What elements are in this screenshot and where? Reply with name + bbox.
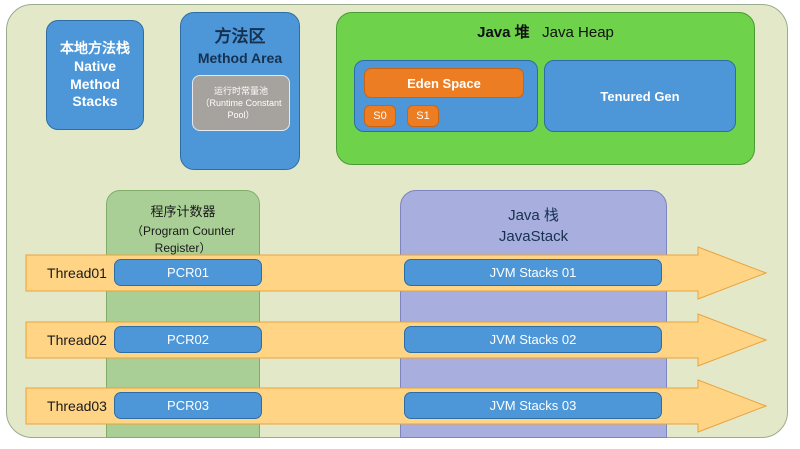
thread-row: Thread02 PCR02 JVM Stacks 02	[26, 322, 766, 358]
runtime-constant-pool-box: 运行时常量池 （Runtime Constant Pool）	[192, 75, 290, 131]
young-generation-box: Eden Space S0 S1	[354, 60, 538, 132]
method-area-box: 方法区 Method Area 运行时常量池 （Runtime Constant…	[180, 12, 300, 170]
java-stack-label-en: JavaStack	[401, 228, 666, 245]
program-counter-register-label-cn: 程序计数器	[107, 201, 259, 220]
runtime-constant-pool-label-cn: 运行时常量池	[214, 85, 268, 97]
pcr-chip: PCR01	[114, 259, 262, 286]
thread-label: Thread03	[34, 388, 120, 424]
java-heap-label-en: Java Heap	[542, 24, 614, 41]
jvm-stack-chip: JVM Stacks 02	[404, 326, 662, 353]
thread-label: Thread02	[34, 322, 120, 358]
native-method-stacks-label-en-2: Method	[70, 76, 120, 93]
method-area-label-cn: 方法区	[215, 27, 266, 48]
method-area-label-en: Method Area	[198, 50, 282, 67]
native-method-stacks-box: 本地方法栈 Native Method Stacks	[46, 20, 144, 130]
survivor-space-0-box: S0	[364, 105, 396, 127]
eden-space-box: Eden Space	[364, 68, 524, 98]
native-method-stacks-label-cn: 本地方法栈	[60, 40, 130, 57]
native-method-stacks-label-en-3: Stacks	[72, 93, 117, 110]
jvm-stack-chip: JVM Stacks 03	[404, 392, 662, 419]
java-heap-label-spacer	[534, 24, 538, 41]
jvm-stack-chip: JVM Stacks 01	[404, 259, 662, 286]
java-stack-label-cn: Java 栈	[401, 204, 666, 225]
runtime-constant-pool-label-en: （Runtime Constant Pool）	[193, 97, 289, 121]
java-heap-label-cn: Java 堆	[477, 24, 530, 41]
survivor-space-1-box: S1	[407, 105, 439, 127]
program-counter-register-label-en: （Program Counter Register）	[107, 222, 259, 256]
thread-row: Thread03 PCR03 JVM Stacks 03	[26, 388, 766, 424]
diagram-canvas: 本地方法栈 Native Method Stacks 方法区 Method Ar…	[0, 0, 800, 449]
pcr-chip: PCR02	[114, 326, 262, 353]
thread-row: Thread01 PCR01 JVM Stacks 01	[26, 255, 766, 291]
pcr-chip: PCR03	[114, 392, 262, 419]
thread-label: Thread01	[34, 255, 120, 291]
tenured-generation-box: Tenured Gen	[544, 60, 736, 132]
java-heap-title: Java 堆 Java Heap	[337, 21, 754, 42]
native-method-stacks-label-en-1: Native	[74, 58, 116, 75]
java-heap-box: Java 堆 Java Heap Eden Space S0 S1 Tenure…	[336, 12, 755, 165]
